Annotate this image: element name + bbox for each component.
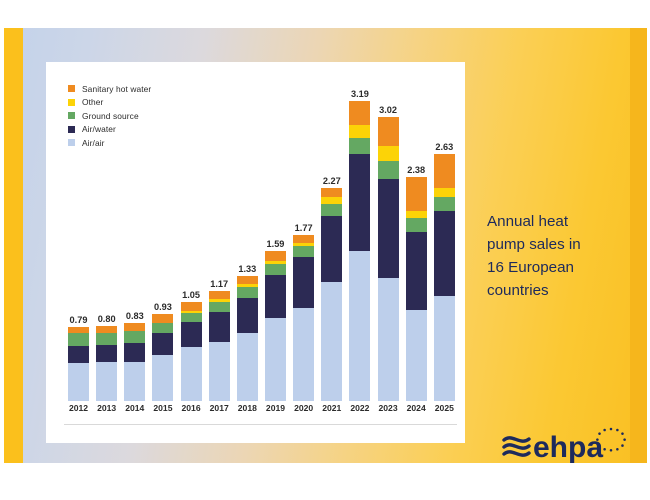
x-axis-tick-label: 2020	[293, 403, 314, 413]
bar-column[interactable]: 3.02	[378, 86, 399, 401]
bar-segment	[434, 296, 455, 401]
chart-plot-area: 0.790.800.830.931.051.171.331.591.772.27…	[64, 86, 457, 435]
bar-stack	[406, 177, 427, 401]
left-accent-bar	[4, 28, 23, 463]
bar-segment	[96, 333, 117, 344]
bar-segment	[124, 362, 145, 401]
bar-segment	[321, 197, 342, 204]
bar-segment	[406, 211, 427, 218]
bar-segment	[209, 291, 230, 299]
bar-segment	[152, 355, 173, 401]
bar-stack	[265, 251, 286, 401]
bar-segment	[349, 125, 370, 137]
bar-segment	[378, 278, 399, 401]
x-axis-tick-label: 2021	[321, 403, 342, 413]
bar-segment	[434, 197, 455, 211]
bar-segment	[265, 251, 286, 260]
bar-segment	[293, 257, 314, 308]
presentation-slide: Sanitary hot waterOtherGround sourceAir/…	[4, 28, 647, 463]
bar-segment	[68, 333, 89, 345]
bar-value-label: 3.02	[368, 105, 408, 115]
bar-column[interactable]: 0.93	[152, 86, 173, 401]
bar-segment	[237, 287, 258, 297]
bar-value-label: 1.77	[284, 223, 324, 233]
bar-value-label: 2.38	[396, 165, 436, 175]
bar-segment	[209, 342, 230, 401]
bar-segment	[406, 218, 427, 232]
title-line-4: countries	[487, 279, 627, 302]
bar-segment	[209, 312, 230, 342]
bar-column[interactable]: 3.19	[349, 86, 370, 401]
x-axis-tick-label: 2014	[124, 403, 145, 413]
bar-segment	[181, 302, 202, 310]
x-axis-tick-label: 2023	[378, 403, 399, 413]
bar-segment	[152, 314, 173, 323]
bar-segment	[349, 154, 370, 252]
bar-segment	[68, 327, 89, 334]
bar-value-label: 3.19	[340, 89, 380, 99]
bar-stack	[237, 276, 258, 401]
title-line-1: Annual heat	[487, 210, 627, 233]
x-axis-tick-label: 2019	[265, 403, 286, 413]
bar-segment	[349, 138, 370, 154]
bar-segment	[181, 347, 202, 401]
chart-panel: Sanitary hot waterOtherGround sourceAir/…	[46, 62, 465, 443]
x-axis-line	[64, 424, 457, 425]
bar-column[interactable]: 2.38	[406, 86, 427, 401]
bar-segment	[378, 179, 399, 278]
bar-segment	[321, 188, 342, 197]
bar-stack	[181, 302, 202, 401]
bar-column[interactable]: 1.59	[265, 86, 286, 401]
ehpa-logo: ehpa	[502, 426, 634, 463]
bar-segment	[152, 323, 173, 333]
bar-segment	[181, 322, 202, 347]
bar-stack	[378, 117, 399, 401]
bar-stack	[152, 314, 173, 401]
bar-segment	[124, 343, 145, 363]
bar-segment	[321, 204, 342, 216]
bar-segment	[378, 146, 399, 161]
wave-icon	[504, 438, 529, 455]
x-axis-tick-label: 2015	[152, 403, 173, 413]
bar-stack	[68, 327, 89, 401]
bar-segment	[321, 216, 342, 282]
bar-segment	[434, 154, 455, 189]
bar-value-label: 1.59	[255, 239, 295, 249]
x-axis-tick-label: 2017	[209, 403, 230, 413]
bar-segment	[406, 177, 427, 211]
bar-stack	[209, 291, 230, 401]
x-axis-tick-label: 2024	[406, 403, 427, 413]
bar-segment	[96, 345, 117, 363]
bar-column[interactable]: 1.17	[209, 86, 230, 401]
bar-column[interactable]: 2.63	[434, 86, 455, 401]
bar-segment	[152, 333, 173, 355]
bar-segment	[68, 346, 89, 364]
bar-stack	[96, 326, 117, 401]
slide-title: Annual heat pump sales in 16 European co…	[487, 210, 627, 302]
bar-segment	[321, 282, 342, 401]
bar-value-label: 0.93	[143, 302, 183, 312]
bar-segment	[237, 333, 258, 401]
bar-segment	[349, 251, 370, 401]
right-accent-bar	[630, 28, 647, 463]
bar-value-label: 2.27	[312, 176, 352, 186]
bar-segment	[124, 323, 145, 331]
bar-series-group: 0.790.800.830.931.051.171.331.591.772.27…	[68, 86, 455, 401]
bar-segment	[434, 188, 455, 196]
bar-column[interactable]: 0.79	[68, 86, 89, 401]
bar-segment	[181, 313, 202, 322]
bar-segment	[209, 302, 230, 311]
bar-segment	[265, 275, 286, 318]
bar-stack	[434, 154, 455, 401]
bar-segment	[96, 326, 117, 334]
x-axis-tick-label: 2016	[181, 403, 202, 413]
x-axis-tick-label: 2013	[96, 403, 117, 413]
bar-segment	[406, 232, 427, 310]
bar-column[interactable]: 1.05	[181, 86, 202, 401]
logo-wordmark: ehpa	[533, 431, 603, 463]
x-axis-tick-label: 2012	[68, 403, 89, 413]
bar-value-label: 0.83	[115, 311, 155, 321]
bar-segment	[434, 211, 455, 296]
bar-segment	[293, 308, 314, 401]
bar-segment	[237, 298, 258, 334]
bar-column[interactable]: 0.83	[124, 86, 145, 401]
bar-stack	[321, 188, 342, 401]
slide-canvas: Sanitary hot waterOtherGround sourceAir/…	[0, 0, 650, 500]
x-axis-tick-label: 2025	[434, 403, 455, 413]
bar-segment	[265, 318, 286, 401]
bar-segment	[124, 331, 145, 342]
bar-column[interactable]: 1.77	[293, 86, 314, 401]
bar-stack	[293, 235, 314, 401]
bar-stack	[349, 101, 370, 401]
bar-segment	[237, 276, 258, 284]
x-axis-tick-label: 2022	[349, 403, 370, 413]
bar-column[interactable]: 2.27	[321, 86, 342, 401]
title-line-3: 16 European	[487, 256, 627, 279]
bar-value-label: 1.17	[199, 279, 239, 289]
x-axis-labels: 2012201320142015201620172018201920202021…	[68, 403, 455, 423]
bar-segment	[293, 246, 314, 257]
bar-segment	[96, 362, 117, 401]
bar-value-label: 1.05	[171, 290, 211, 300]
bar-segment	[378, 117, 399, 146]
bar-stack	[124, 323, 145, 401]
bar-value-label: 1.33	[227, 264, 267, 274]
x-axis-tick-label: 2018	[237, 403, 258, 413]
bar-segment	[406, 310, 427, 401]
ehpa-logo-graphic: ehpa	[502, 426, 634, 463]
bar-segment	[265, 264, 286, 275]
bar-column[interactable]: 0.80	[96, 86, 117, 401]
bar-segment	[68, 363, 89, 401]
title-line-2: pump sales in	[487, 233, 627, 256]
bar-segment	[293, 235, 314, 243]
bar-value-label: 2.63	[424, 142, 464, 152]
